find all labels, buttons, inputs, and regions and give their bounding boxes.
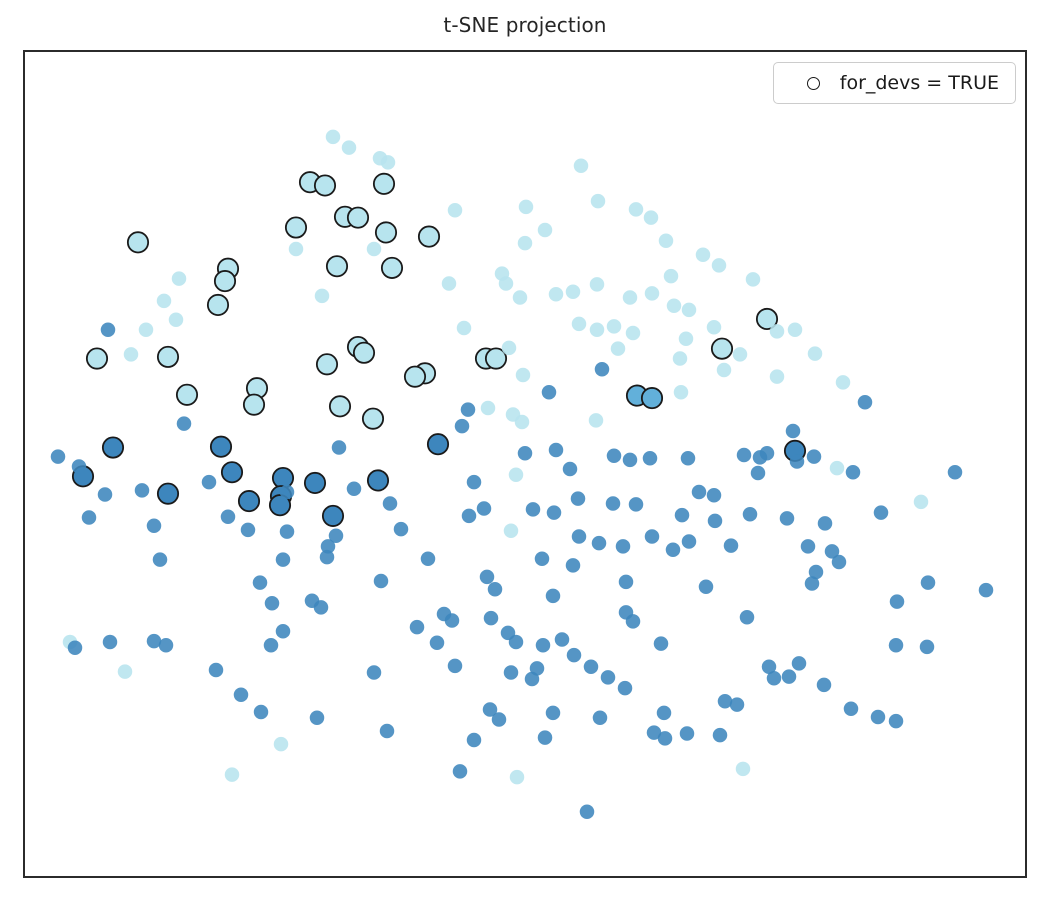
scatter-point: [832, 555, 847, 570]
series-for-devs-false: [51, 130, 994, 819]
scatter-point: [538, 223, 553, 238]
scatter-point: [790, 454, 805, 469]
scatter-point: [707, 320, 722, 335]
scatter-point: [595, 362, 610, 377]
scatter-point: [546, 589, 561, 604]
scatter-point: [948, 465, 963, 480]
scatter-point: [590, 277, 605, 292]
scatter-point: [713, 728, 728, 743]
scatter-point: [914, 495, 929, 510]
scatter-point: [679, 332, 694, 347]
scatter-point: [172, 271, 187, 286]
scatter-point: [782, 669, 797, 684]
scatter-point: [209, 663, 224, 678]
scatter-point: [442, 276, 457, 291]
scatter-point: [874, 505, 889, 520]
scatter-point: [921, 575, 936, 590]
scatter-point: [801, 539, 816, 554]
scatter-point: [139, 322, 154, 337]
scatter-point: [241, 523, 256, 538]
scatter-point: [780, 511, 795, 526]
page-title: t-SNE projection: [0, 13, 1050, 37]
scatter-point: [215, 271, 235, 291]
scatter-point: [737, 448, 752, 463]
scatter-point: [830, 461, 845, 476]
scatter-point: [626, 326, 641, 341]
scatter-point: [616, 539, 631, 554]
scatter-point: [329, 528, 344, 543]
scatter-point: [519, 200, 534, 215]
scatter-point: [817, 678, 832, 693]
scatter-point: [536, 638, 551, 653]
scatter-point: [712, 338, 732, 358]
scatter-point: [547, 505, 562, 520]
scatter-point: [645, 529, 660, 544]
scatter-point: [510, 770, 525, 785]
scatter-point: [280, 524, 295, 539]
scatter-point: [225, 767, 240, 782]
scatter-point: [153, 552, 168, 567]
scatter-point: [590, 322, 605, 337]
scatter-point: [202, 475, 217, 490]
scatter-point: [320, 550, 335, 565]
scatter-point: [591, 194, 606, 209]
scatter-point: [712, 258, 727, 273]
scatter-point: [504, 523, 519, 538]
scatter-point: [177, 416, 192, 431]
scatter-point: [461, 402, 476, 417]
scatter-point: [584, 659, 599, 674]
scatter-point: [611, 341, 626, 356]
scatter-point: [492, 712, 507, 727]
scatter-point: [692, 485, 707, 500]
scatter-point: [382, 258, 402, 278]
scatter-point: [502, 341, 517, 356]
scatter-point: [844, 701, 859, 716]
scatter-point: [643, 451, 658, 466]
scatter-point: [682, 303, 697, 318]
scatter-point: [342, 140, 357, 155]
scatter-point: [484, 611, 499, 626]
scatter-point: [405, 367, 425, 387]
scatter-point: [572, 317, 587, 332]
scatter-point: [428, 434, 448, 454]
scatter-point: [666, 542, 681, 557]
scatter-point: [751, 466, 766, 481]
scatter-point: [315, 289, 330, 304]
scatter-point: [135, 483, 150, 498]
scatter-point: [118, 664, 133, 679]
scatter-point: [770, 369, 785, 384]
scatter-point: [363, 409, 383, 429]
legend-entry-label: for_devs = TRUE: [840, 74, 999, 93]
scatter-point: [305, 473, 325, 493]
scatter-point: [374, 574, 389, 589]
scatter-point: [410, 620, 425, 635]
scatter-point: [618, 681, 633, 696]
scatter-point: [629, 497, 644, 512]
scatter-point: [348, 207, 368, 227]
plot-area: for_devs = TRUE: [23, 50, 1027, 878]
scatter-point: [574, 158, 589, 173]
scatter-point: [368, 470, 388, 490]
scatter-point: [276, 552, 291, 567]
scatter-point: [332, 440, 347, 455]
scatter-point: [347, 481, 362, 496]
legend-marker-cell: [788, 77, 840, 90]
scatter-point: [515, 415, 530, 430]
scatter-point: [87, 348, 107, 368]
scatter-point: [566, 558, 581, 573]
scatter-point: [513, 290, 528, 305]
scatter-point: [733, 347, 748, 362]
scatter-point: [448, 203, 463, 218]
scatter-point: [273, 468, 293, 488]
scatter-point: [453, 764, 468, 779]
scatter-point: [103, 437, 123, 457]
scatter-point: [767, 671, 782, 686]
scatter-point: [871, 710, 886, 725]
scatter-point: [673, 351, 688, 366]
scatter-point: [376, 222, 396, 242]
scatter-point: [276, 624, 291, 639]
scatter-point: [518, 236, 533, 251]
scatter-point: [675, 508, 690, 522]
scatter-point: [314, 600, 329, 615]
scatter-point: [419, 226, 439, 246]
scatter-point: [208, 295, 228, 315]
scatter-point: [858, 395, 873, 410]
scatter-point: [317, 354, 337, 374]
scatter-point: [128, 232, 148, 252]
scatter-point: [380, 724, 395, 739]
scatter-point: [467, 733, 482, 748]
scatter-point: [274, 737, 289, 752]
scatter-point: [526, 502, 541, 517]
scatter-point: [234, 687, 249, 702]
scatter-point: [530, 661, 545, 676]
scatter-point: [538, 730, 553, 745]
scatter-point: [82, 510, 97, 525]
scatter-point: [394, 522, 409, 537]
scatter-point: [421, 552, 436, 567]
scatter-point: [654, 636, 669, 651]
scatter-point: [367, 242, 382, 257]
scatter-point: [567, 648, 582, 663]
scatter-point: [367, 665, 382, 680]
scatter-point: [572, 529, 587, 544]
scatter-point: [805, 576, 820, 591]
scatter-point: [682, 534, 697, 549]
scatter-point: [430, 636, 445, 651]
scatter-point: [580, 804, 595, 819]
scatter-point: [169, 313, 184, 328]
scatter-point: [72, 459, 87, 474]
scatter-point: [566, 285, 581, 300]
scatter-point: [979, 583, 994, 598]
scatter-point: [623, 453, 638, 468]
scatter-point: [158, 484, 178, 504]
scatter-point: [658, 731, 673, 746]
scatter-point: [374, 174, 394, 194]
scatter-point: [383, 496, 398, 511]
scatter-point: [159, 638, 174, 653]
scatter-point: [659, 233, 674, 248]
scatter-point: [786, 424, 801, 439]
scatter-point: [124, 347, 139, 362]
scatter-point: [920, 640, 935, 655]
scatter-point: [699, 580, 714, 595]
scatter-point: [736, 762, 751, 777]
scatter-point: [657, 706, 672, 721]
scatter-point: [807, 449, 822, 464]
scatter-point: [330, 396, 350, 416]
scatter-point: [481, 401, 496, 416]
scatter-point: [68, 641, 83, 656]
scatter-point: [664, 269, 679, 284]
scatter-point: [563, 462, 578, 477]
series-for-devs-true: [73, 172, 805, 526]
scatter-point: [354, 343, 374, 363]
scatter-point: [760, 446, 775, 461]
scatter-point: [221, 509, 236, 524]
scatter-point: [509, 635, 524, 650]
scatter-point: [455, 419, 470, 434]
scatter-point: [606, 496, 621, 511]
scatter-point: [327, 256, 347, 276]
scatter-point: [681, 451, 696, 466]
scatter-points-layer: [25, 52, 1025, 876]
scatter-point: [818, 516, 833, 531]
scatter-point: [549, 287, 564, 302]
scatter-point: [593, 711, 608, 726]
scatter-point: [642, 388, 662, 408]
scatter-point: [448, 659, 463, 674]
scatter-point: [743, 507, 758, 522]
scatter-point: [696, 247, 711, 262]
scatter-point: [746, 272, 761, 287]
scatter-point: [535, 552, 550, 567]
scatter-point: [98, 487, 113, 502]
scatter-point: [607, 319, 622, 334]
scatter-point: [239, 491, 259, 511]
scatter-point: [730, 697, 745, 712]
scatter-point: [158, 347, 178, 367]
scatter-point: [286, 217, 306, 237]
scatter-point: [645, 286, 660, 301]
scatter-point: [889, 638, 904, 653]
scatter-point: [326, 130, 341, 145]
scatter-point: [253, 575, 268, 590]
scatter-point: [488, 582, 503, 597]
scatter-point: [289, 242, 304, 257]
scatter-point: [315, 175, 335, 195]
scatter-point: [890, 594, 905, 609]
scatter-point: [717, 363, 732, 378]
scatter-point: [244, 395, 264, 415]
scatter-point: [381, 155, 396, 170]
scatter-point: [157, 294, 172, 309]
scatter-point: [626, 614, 641, 629]
scatter-point: [607, 449, 622, 464]
scatter-point: [457, 321, 472, 336]
scatter-point: [323, 506, 343, 526]
scatter-point: [504, 665, 519, 680]
tsne-scatter-figure: t-SNE projection for_devs = TRUE: [0, 0, 1050, 900]
scatter-point: [623, 290, 638, 305]
scatter-point: [770, 324, 785, 339]
scatter-point: [601, 670, 616, 685]
scatter-point: [467, 475, 482, 490]
scatter-point: [254, 705, 269, 720]
scatter-point: [792, 656, 807, 671]
scatter-point: [788, 322, 803, 337]
scatter-point: [147, 519, 162, 534]
scatter-point: [740, 610, 755, 625]
scatter-point: [846, 465, 861, 480]
scatter-point: [265, 596, 280, 611]
scatter-point: [555, 632, 570, 647]
scatter-point: [629, 202, 644, 217]
scatter-point: [462, 509, 477, 524]
scatter-point: [177, 385, 197, 405]
legend[interactable]: for_devs = TRUE: [773, 62, 1016, 104]
scatter-point: [836, 375, 851, 390]
scatter-point: [592, 536, 607, 551]
scatter-point: [708, 514, 723, 529]
scatter-point: [211, 437, 231, 457]
scatter-point: [644, 210, 659, 225]
scatter-point: [101, 322, 116, 337]
scatter-point: [549, 443, 564, 458]
scatter-point: [707, 488, 722, 503]
scatter-point: [667, 299, 682, 314]
scatter-point: [509, 467, 524, 482]
scatter-point: [619, 575, 634, 590]
scatter-point: [477, 501, 492, 516]
scatter-point: [724, 538, 739, 553]
scatter-point: [280, 485, 295, 500]
scatter-point: [51, 449, 66, 464]
scatter-point: [889, 714, 904, 729]
scatter-point: [222, 462, 242, 482]
scatter-point: [589, 413, 604, 428]
scatter-points-svg: [25, 52, 1025, 876]
scatter-point: [680, 726, 695, 741]
scatter-point: [264, 638, 279, 653]
scatter-point: [445, 613, 460, 628]
scatter-point: [103, 635, 118, 650]
scatter-point: [310, 711, 325, 726]
open-circle-marker-icon: [807, 77, 820, 90]
scatter-point: [516, 368, 531, 383]
scatter-point: [546, 706, 561, 721]
scatter-point: [542, 385, 557, 400]
scatter-point: [808, 346, 823, 361]
scatter-point: [499, 276, 514, 291]
scatter-point: [674, 385, 689, 400]
scatter-point: [571, 491, 586, 506]
scatter-point: [480, 570, 495, 585]
scatter-point: [518, 446, 533, 461]
